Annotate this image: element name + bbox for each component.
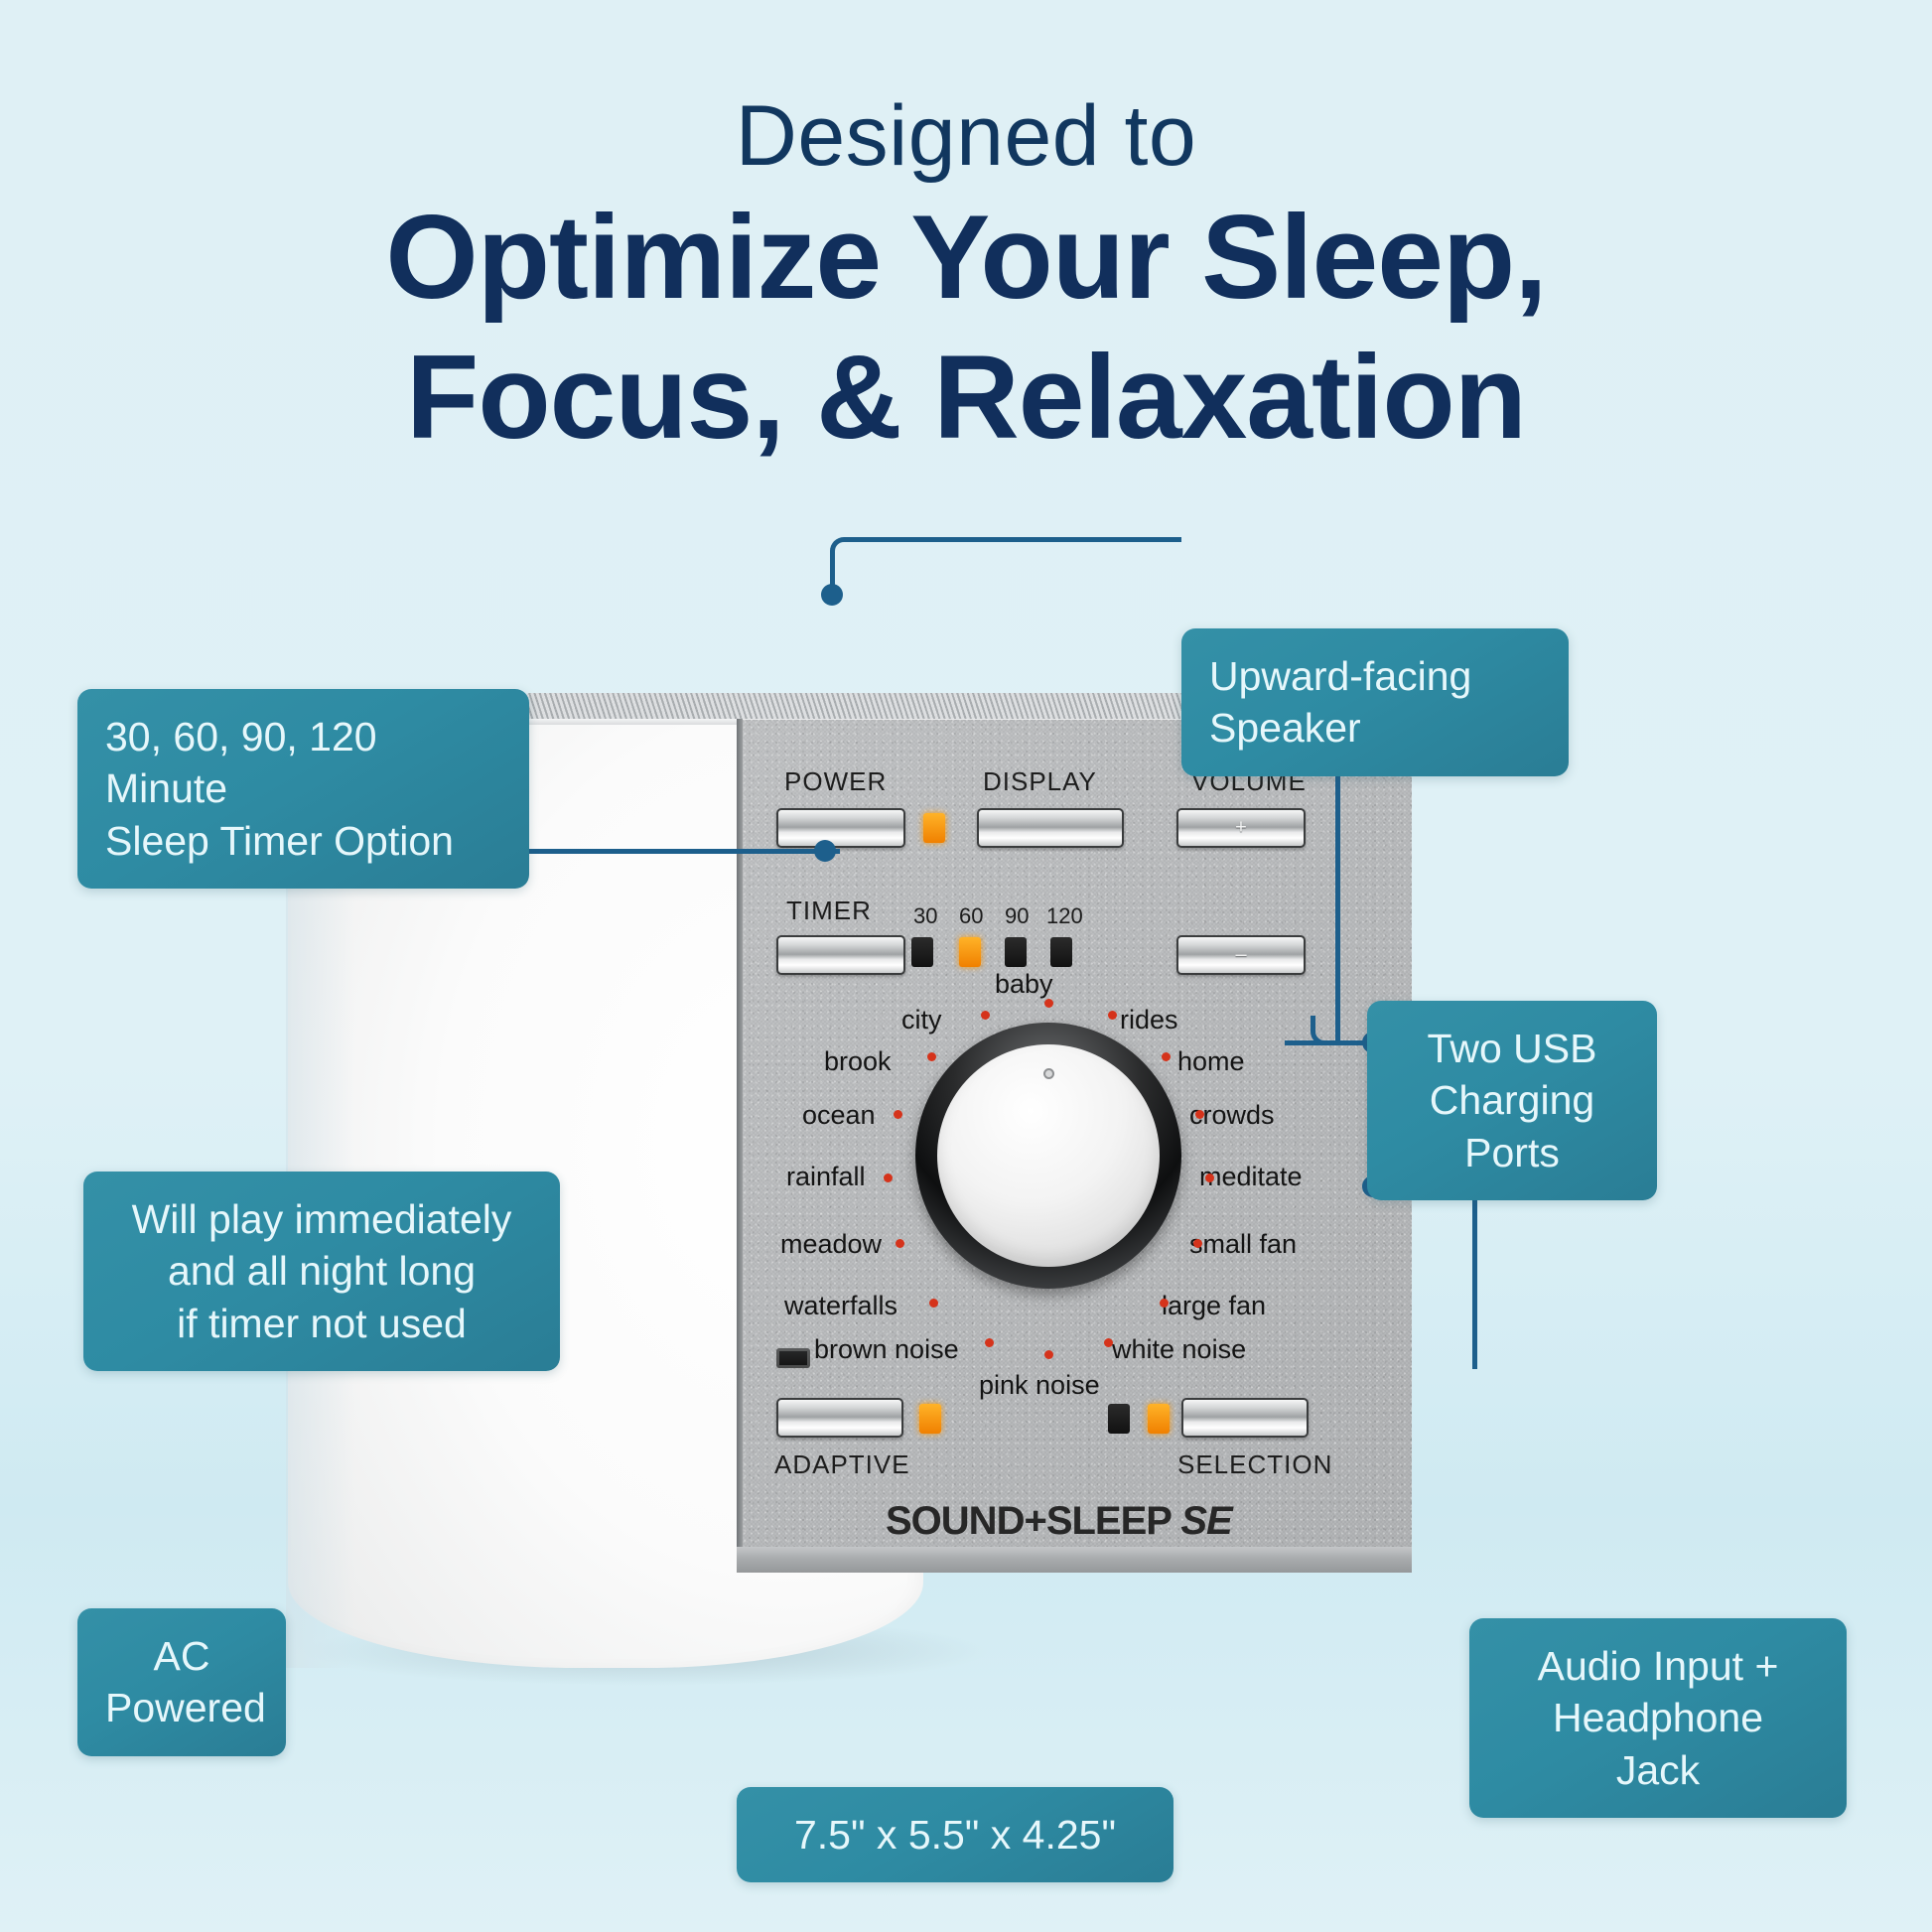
callout-line: Jack [1497, 1744, 1819, 1796]
callout-sleep-timer: 30, 60, 90, 120 Minute Sleep Timer Optio… [77, 689, 529, 889]
sound-label-rainfall: rainfall [786, 1162, 866, 1192]
selection-led-2 [1148, 1404, 1170, 1434]
callout-line: Two USB [1395, 1023, 1629, 1074]
headline-block: Designed to Optimize Your Sleep, Focus, … [0, 91, 1932, 462]
leader-segment [856, 537, 1181, 542]
brand-logo: SOUND+SLEEP SE [886, 1499, 1232, 1544]
display-label: DISPLAY [983, 766, 1097, 797]
brand-sleep: SLEEP [1046, 1499, 1171, 1543]
sound-label-meadow: meadow [780, 1229, 882, 1260]
headline-line-2: Focus, & Relaxation [0, 335, 1932, 461]
sound-label-meditate: meditate [1199, 1162, 1303, 1192]
callout-line: Speaker [1209, 702, 1541, 754]
callout-play-all-night: Will play immediately and all night long… [83, 1172, 560, 1371]
knob-tick-dot [896, 1239, 904, 1248]
volume-down-button[interactable]: – [1176, 935, 1306, 975]
headline-kicker: Designed to [0, 91, 1932, 181]
timer-led-60 [959, 937, 981, 967]
brand-sound: SOUND [886, 1499, 1024, 1543]
leader-segment [1335, 758, 1340, 1045]
sound-label-city: city [901, 1005, 942, 1035]
knob-tick-dot [1193, 1239, 1202, 1248]
display-button[interactable] [977, 808, 1124, 848]
callout-line: Ports [1395, 1127, 1629, 1178]
knob-tick-dot [1044, 1350, 1053, 1359]
power-label: POWER [784, 766, 887, 797]
callout-line: 7.5" x 5.5" x 4.25" [764, 1809, 1146, 1861]
timer-button[interactable] [776, 935, 905, 975]
selection-label: SELECTION [1177, 1449, 1332, 1480]
sound-label-ocean: ocean [802, 1100, 876, 1131]
knob-tick-dot [1162, 1052, 1171, 1061]
sound-label-rides: rides [1120, 1005, 1178, 1035]
knob-tick-dot [927, 1052, 936, 1061]
sound-label-large-fan: large fan [1162, 1291, 1266, 1321]
timer-tick-60: 60 [959, 903, 983, 929]
sound-label-waterfalls: waterfalls [784, 1291, 897, 1321]
power-button[interactable] [776, 808, 905, 848]
sound-selector-knob[interactable] [915, 1023, 1181, 1289]
brand-model: SE [1180, 1499, 1231, 1543]
selection-led-1 [1108, 1404, 1130, 1434]
adaptive-toggle-switch[interactable] [776, 1348, 810, 1368]
knob-indicator-dot [1043, 1068, 1054, 1079]
sound-label-home: home [1177, 1046, 1245, 1077]
callout-line: and all night long [111, 1245, 532, 1297]
callout-line: AC [105, 1630, 258, 1682]
callout-audio-jack: Audio Input + Headphone Jack [1469, 1618, 1847, 1818]
callout-upward-speaker: Upward-facing Speaker [1181, 628, 1569, 776]
timer-tick-90: 90 [1005, 903, 1029, 929]
knob-tick-dot [1195, 1110, 1204, 1119]
panel-left-seam [737, 719, 743, 1563]
callout-line: Will play immediately [111, 1193, 532, 1245]
sound-label-white-noise: white noise [1112, 1334, 1246, 1365]
timer-led-90 [1005, 937, 1027, 967]
knob-tick-dot [981, 1011, 990, 1020]
leader-dot-timer [814, 840, 836, 862]
leader-segment [1472, 1210, 1477, 1369]
timer-tick-30: 30 [913, 903, 937, 929]
timer-led-30 [911, 937, 933, 967]
timer-label: TIMER [786, 896, 872, 926]
brand-plus-icon: + [1024, 1499, 1045, 1543]
callout-line: Upward-facing [1209, 650, 1541, 702]
sound-label-small-fan: small fan [1189, 1229, 1297, 1260]
callout-dimensions: 7.5" x 5.5" x 4.25" [737, 1787, 1173, 1882]
plus-icon: + [1235, 817, 1247, 840]
sound-label-brook: brook [824, 1046, 892, 1077]
device-bottom-lip [737, 1547, 1412, 1573]
callout-line: 30, 60, 90, 120 Minute [105, 711, 501, 815]
knob-tick-dot [1104, 1338, 1113, 1347]
sound-label-pink-noise: pink noise [979, 1370, 1100, 1401]
selection-button[interactable] [1181, 1398, 1309, 1438]
adaptive-label: ADAPTIVE [774, 1449, 910, 1480]
headline-line-1: Optimize Your Sleep, [0, 195, 1932, 321]
knob-tick-dot [985, 1338, 994, 1347]
knob-tick-dot [1160, 1299, 1169, 1308]
callout-line: Audio Input + [1497, 1640, 1819, 1692]
sound-label-baby: baby [995, 969, 1053, 1000]
callout-ac-powered: AC Powered [77, 1608, 286, 1756]
volume-up-button[interactable]: + [1176, 808, 1306, 848]
callout-line: if timer not used [111, 1298, 532, 1349]
knob-tick-dot [894, 1110, 902, 1119]
minus-icon: – [1235, 944, 1246, 967]
adaptive-led [919, 1404, 941, 1434]
knob-tick-dot [929, 1299, 938, 1308]
callout-usb-ports: Two USB Charging Ports [1367, 1001, 1657, 1200]
timer-tick-120: 120 [1046, 903, 1083, 929]
callout-line: Powered [105, 1682, 258, 1733]
knob-tick-dot [1108, 1011, 1117, 1020]
knob-tick-dot [1205, 1173, 1214, 1182]
callout-line: Charging [1395, 1074, 1629, 1126]
power-led [923, 813, 945, 843]
callout-line: Sleep Timer Option [105, 815, 501, 867]
knob-tick-dot [884, 1173, 893, 1182]
sound-label-brown-noise: brown noise [814, 1334, 959, 1365]
knob-face [937, 1044, 1160, 1267]
adaptive-button[interactable] [776, 1398, 903, 1438]
knob-tick-dot [1044, 999, 1053, 1008]
callout-line: Headphone [1497, 1692, 1819, 1743]
timer-led-120 [1050, 937, 1072, 967]
